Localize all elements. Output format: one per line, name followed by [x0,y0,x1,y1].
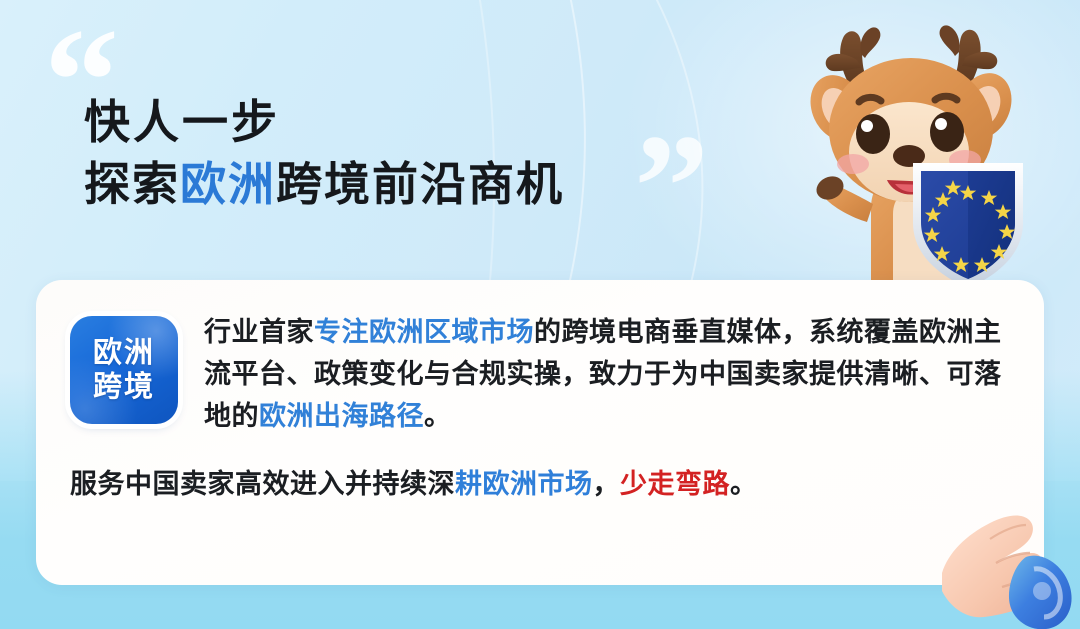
cheek-left [837,154,869,174]
headline-block: 快人一步 探索欧洲跨境前沿商机 [84,92,744,215]
headline-line-2-post: 跨境前沿商机 [276,158,564,210]
pointing-hand-cursor [930,495,1080,629]
p2-seg-1: 服务中国卖家高效进入并持续深 [70,469,455,499]
p2-highlight-market: 耕欧洲市场 [455,469,593,499]
pointing-hand-icon [930,495,1080,629]
headline-line-2-pre: 探索 [84,158,180,210]
p1-seg-5: 。 [424,401,452,431]
p1-seg-1: 行业首家 [204,317,314,347]
brand-logo-badge[interactable]: 欧洲 跨境 [70,316,178,424]
deer-mascot [775,8,1075,293]
logo-line-1: 欧洲 [93,336,155,370]
p1-highlight-market: 专注欧洲区域市场 [314,317,534,347]
eye-right [930,112,964,152]
logo-line-2: 跨境 [93,370,155,404]
mission-paragraph: 服务中国卖家高效进入并持续深耕欧洲市场，少走弯路。 [70,464,1010,505]
intro-paragraph-row: 欧洲 跨境 行业首家专注欧洲区域市场的跨境电商垂直媒体，系统覆盖欧洲主流平台、政… [70,310,1010,438]
p1-highlight-path: 欧洲出海路径 [259,401,424,431]
intro-paragraph: 行业首家专注欧洲区域市场的跨境电商垂直媒体，系统覆盖欧洲主流平台、政策变化与合规… [204,310,1010,438]
headline-line-2-accent: 欧洲 [180,158,276,210]
promo-banner: “ ” 快人一步 探索欧洲跨境前沿商机 [0,0,1080,629]
p2-highlight-alert: 少走弯路 [620,469,730,499]
headline-line-2: 探索欧洲跨境前沿商机 [84,154,744,216]
p2-seg-5: 。 [730,469,758,499]
deer-mascot-illustration [775,8,1075,293]
headline-line-1: 快人一步 [84,92,744,154]
p2-seg-3: ， [593,469,621,499]
eye-left [856,114,890,154]
content-card: 欧洲 跨境 行业首家专注欧洲区域市场的跨境电商垂直媒体，系统覆盖欧洲主流平台、政… [36,280,1044,585]
